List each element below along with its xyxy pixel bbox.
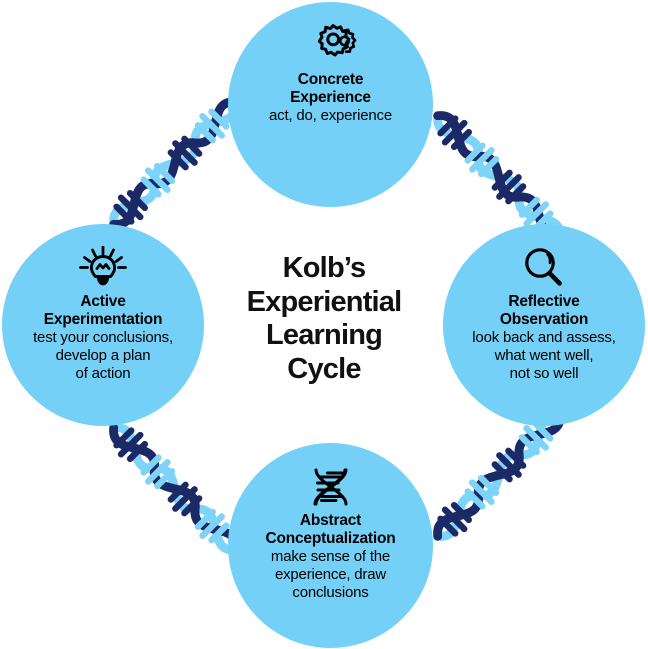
- kolb-cycle-diagram: Concrete Experience act, do, experience …: [0, 0, 648, 649]
- node-title-line: Observation: [500, 311, 588, 328]
- center-title: Kolb’s Experiential Learning Cycle: [224, 252, 424, 387]
- node-title-line: Abstract: [300, 512, 361, 529]
- center-title-line: Kolb’s: [224, 252, 424, 286]
- node-description-line: make sense of the: [271, 548, 390, 565]
- node-description-line: not so well: [510, 365, 579, 382]
- node-title-line: Conceptualization: [265, 530, 395, 547]
- node-active-experimentation[interactable]: Active Experimentation test your conclus…: [2, 224, 204, 426]
- node-title: Abstract Conceptualization: [265, 512, 395, 548]
- node-description: make sense of the experience, draw concl…: [271, 548, 390, 602]
- connector-top-left: [104, 93, 245, 234]
- center-title-line: Cycle: [224, 353, 424, 387]
- node-description-line: test your conclusions,: [33, 329, 173, 346]
- node-description-line: conclusions: [292, 584, 368, 601]
- node-title-line: Experimentation: [44, 311, 162, 328]
- node-description: act, do, experience: [269, 107, 392, 125]
- node-reflective-observation[interactable]: Reflective Observation look back and ass…: [443, 224, 645, 426]
- node-title: Reflective Observation: [500, 293, 588, 329]
- node-title-line: Concrete: [298, 71, 364, 88]
- node-description-line: look back and assess,: [472, 329, 615, 346]
- node-description-line: of action: [76, 365, 131, 382]
- node-title: Concrete Experience: [290, 71, 371, 107]
- gears-icon: [303, 24, 359, 68]
- node-description-line: develop a plan: [56, 347, 151, 364]
- node-concrete-experience[interactable]: Concrete Experience act, do, experience: [228, 2, 433, 207]
- node-title: Active Experimentation: [44, 293, 162, 329]
- dna-helix-icon: [307, 465, 355, 509]
- node-title-line: Reflective: [508, 293, 579, 310]
- node-description-line: experience, draw: [275, 566, 386, 583]
- center-title-line: Experiential: [224, 286, 424, 320]
- magnifying-glass-icon: [521, 246, 567, 290]
- lightbulb-icon: [75, 246, 131, 290]
- node-abstract-conceptualization[interactable]: Abstract Conceptualization make sense of…: [228, 443, 433, 648]
- node-title-line: Active: [80, 293, 125, 310]
- node-description-line: act, do, experience: [269, 107, 392, 124]
- connector-bottom-left: [104, 418, 245, 559]
- center-title-line: Learning: [224, 319, 424, 353]
- node-description: test your conclusions, develop a plan of…: [33, 329, 173, 383]
- node-description: look back and assess, what went well, no…: [472, 329, 615, 383]
- node-description-line: what went well,: [495, 347, 594, 364]
- node-title-line: Experience: [290, 89, 371, 106]
